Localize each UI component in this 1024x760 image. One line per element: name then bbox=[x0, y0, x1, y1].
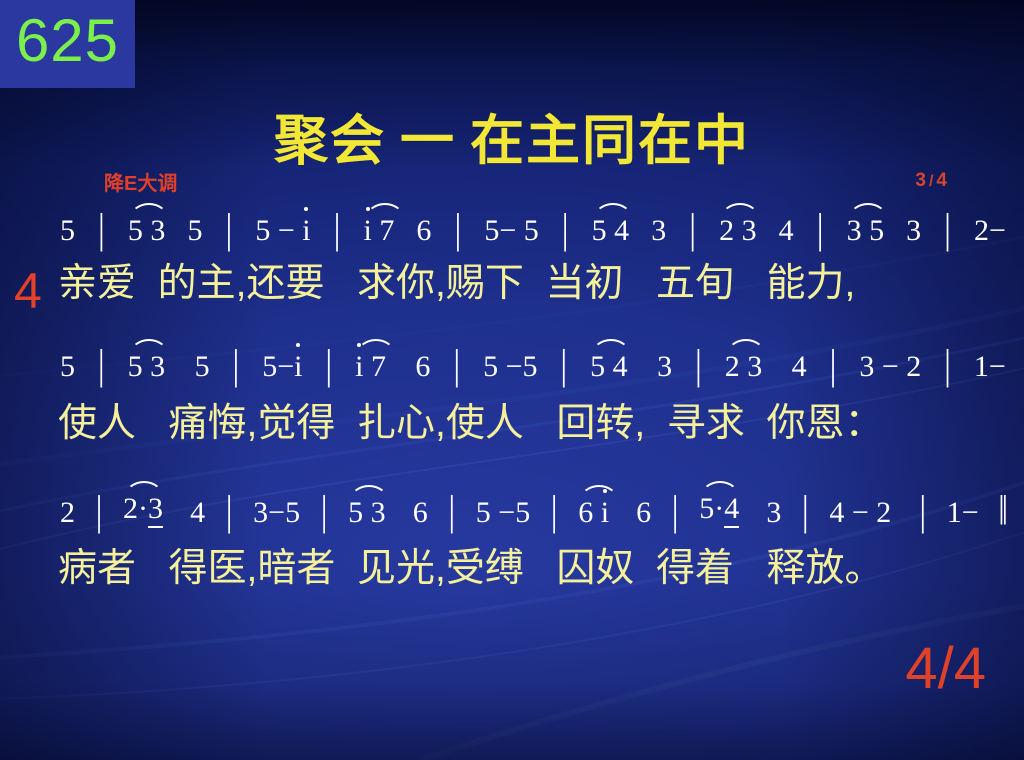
note-group: 5 bbox=[187, 216, 202, 246]
lyrics-line-1: 亲爱 的主,还要 求你,赐下 当初 五旬 能力, bbox=[58, 264, 1014, 305]
note-group: 5 bbox=[60, 352, 75, 382]
barline: | bbox=[453, 209, 462, 252]
note-group: 1− bbox=[974, 352, 1006, 382]
note-group: 5 bbox=[60, 216, 75, 246]
slur-arc-icon bbox=[721, 203, 759, 218]
slur-arc-icon bbox=[350, 485, 388, 500]
barline: | bbox=[688, 209, 697, 252]
time-signature: 4/4 bbox=[905, 640, 986, 698]
barline: | bbox=[816, 209, 825, 252]
barline: | bbox=[225, 209, 234, 252]
note-group: 6 bbox=[408, 352, 431, 382]
music-stave-1: 5|5 35|5 − i|i 76|5− 5|5 43|2 34|3 53|2− bbox=[60, 212, 1010, 246]
page-indicator: 3/4 bbox=[915, 170, 948, 192]
notation-line-2: 5|5 3 5|5−i|i 7 6|5 −5|5 4 3|2 3 4|3 − 2… bbox=[60, 348, 1010, 382]
barline: | bbox=[801, 491, 810, 534]
barline: | bbox=[550, 491, 559, 534]
barline: | bbox=[918, 491, 927, 534]
note-group: 5 − i bbox=[255, 216, 310, 246]
note-group: 5 4 bbox=[590, 352, 628, 382]
slur-arc-icon bbox=[727, 339, 765, 354]
music-stave-3: 2|2·3 4|3−5|5 3 6|5 −5|6 i 6|5·4 3|4 − 2… bbox=[60, 494, 1010, 528]
slur-arc-icon bbox=[701, 481, 739, 496]
note-group: 5− 5 bbox=[484, 216, 538, 246]
note-group: 2− bbox=[974, 216, 1006, 246]
barline: | bbox=[559, 345, 568, 388]
note-group: 6 bbox=[629, 498, 652, 528]
page-current: 3 bbox=[915, 170, 927, 191]
music-stave-2: 5|5 3 5|5−i|i 7 6|5 −5|5 4 3|2 3 4|3 − 2… bbox=[60, 348, 1010, 382]
barline: | bbox=[95, 491, 104, 534]
note-group: 4 − 2 bbox=[829, 498, 898, 528]
note-group: 3 bbox=[650, 352, 673, 382]
slur-arc-icon bbox=[366, 203, 404, 218]
slur-arc-icon bbox=[125, 481, 163, 496]
lyrics-line-3: 病者 得医,暗者 见光,受缚 囚奴 得着 释放。 bbox=[58, 549, 1014, 590]
note-group: 4 bbox=[779, 216, 794, 246]
note-group: 2 3 bbox=[725, 352, 763, 382]
note-group: 4 bbox=[784, 352, 807, 382]
title-part-2: 在主同在中 bbox=[470, 111, 750, 171]
note-group: 5 3 bbox=[348, 498, 386, 528]
slur-arc-icon bbox=[130, 339, 168, 354]
slur-arc-icon bbox=[594, 203, 632, 218]
note-group: 5·4 bbox=[699, 494, 739, 528]
lyrics-line-2: 使人 痛悔,觉得 扎心,使人 回转, 寻求 你恩： bbox=[58, 404, 1014, 445]
note-group: 2 3 bbox=[719, 216, 757, 246]
slur-arc-icon bbox=[357, 339, 395, 354]
barline: | bbox=[447, 491, 456, 534]
note-group: 5 −5 bbox=[476, 498, 530, 528]
note-group: 1− bbox=[947, 498, 979, 528]
barline: | bbox=[97, 345, 106, 388]
title-part-1: 聚会 bbox=[274, 111, 386, 171]
note-group: 5 3 bbox=[128, 352, 166, 382]
note-group: 3 5 bbox=[847, 216, 885, 246]
note-group: 3 bbox=[651, 216, 666, 246]
note-group: 5−i bbox=[262, 352, 302, 382]
barline: | bbox=[333, 209, 342, 252]
page-total: 4 bbox=[936, 170, 948, 191]
barline: | bbox=[561, 209, 570, 252]
barline: | bbox=[694, 345, 703, 388]
note-group: 5 bbox=[187, 352, 210, 382]
barline: | bbox=[943, 209, 952, 252]
slur-arc-icon bbox=[130, 203, 168, 218]
hymn-slide: 625 聚会一在主同在中 降E大调 3/4 4 5|5 35|5 − i|i 7… bbox=[0, 0, 1024, 760]
note-group: 3 bbox=[759, 498, 782, 528]
note-group: i 7 bbox=[364, 216, 395, 246]
barline: | bbox=[97, 209, 106, 252]
key-signature-label: 降E大调 bbox=[104, 167, 177, 196]
verse-number: 4 bbox=[14, 266, 42, 316]
notation-line-3: 2|2·3 4|3−5|5 3 6|5 −5|6 i 6|5·4 3|4 − 2… bbox=[60, 494, 1010, 528]
barline: | bbox=[232, 345, 241, 388]
page-separator: / bbox=[927, 173, 936, 190]
note-group: 3 − 2 bbox=[859, 352, 921, 382]
note-group: 3−5 bbox=[253, 498, 300, 528]
note-group: 4 bbox=[183, 498, 206, 528]
page-title: 聚会一在主同在中 bbox=[0, 96, 1024, 175]
note-group: 6 bbox=[416, 216, 431, 246]
note-group: i 7 bbox=[355, 352, 386, 382]
octave-dot-icon bbox=[304, 207, 308, 211]
note-group: 5 4 bbox=[592, 216, 630, 246]
note-group: 5 3 bbox=[128, 216, 166, 246]
note-group: 2 bbox=[60, 498, 75, 528]
barline: | bbox=[225, 491, 234, 534]
note-group: 2·3 bbox=[123, 494, 163, 528]
barline: | bbox=[671, 491, 680, 534]
slur-arc-icon bbox=[592, 339, 630, 354]
hymn-number-badge: 625 bbox=[0, 0, 135, 88]
note-group: 6 i bbox=[578, 498, 609, 528]
note-group: 3 bbox=[906, 216, 921, 246]
note-group: 6 bbox=[405, 498, 428, 528]
hymn-number-label: 625 bbox=[16, 11, 119, 77]
slur-arc-icon bbox=[849, 203, 887, 218]
barline: | bbox=[829, 345, 838, 388]
octave-dot-icon bbox=[296, 343, 300, 347]
double-barline: ‖ bbox=[998, 491, 1006, 534]
barline: | bbox=[324, 345, 333, 388]
notation-line-1: 5|5 35|5 − i|i 76|5− 5|5 43|2 34|3 53|2− bbox=[60, 212, 1010, 246]
title-separator: 一 bbox=[386, 111, 470, 171]
note-group: 5 −5 bbox=[483, 352, 537, 382]
barline: | bbox=[320, 491, 329, 534]
slur-arc-icon bbox=[580, 485, 618, 500]
barline: | bbox=[943, 345, 952, 388]
barline: | bbox=[452, 345, 461, 388]
